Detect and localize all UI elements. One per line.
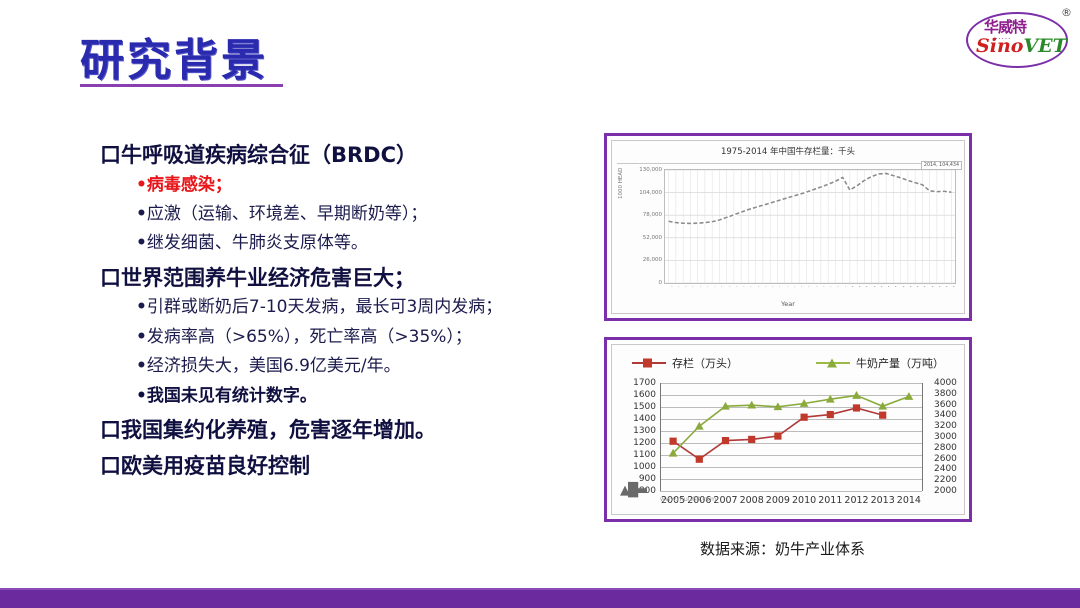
bullet-text: 牛呼吸道疾病综合征（BRDC） xyxy=(121,143,417,167)
bullet-text: 继发细菌、牛肺炎支原体等。 xyxy=(147,233,368,253)
chart-top-inner-frame: 1975-2014 年中国牛存栏量：千头 1000 HEAD 026,00052… xyxy=(611,140,965,314)
chart-bot-x-tick: 2007 xyxy=(713,495,737,506)
chart-bot-right-y-tick: 3200 xyxy=(934,421,957,431)
chart-top-x-axis-label: Year xyxy=(612,300,964,308)
square-bullet-icon: 口 xyxy=(100,418,121,442)
chart-bot-right-y-tick: 3600 xyxy=(934,400,957,410)
bullet-text: 经济损失大，美国6.9亿美元/年。 xyxy=(147,356,401,376)
bullet-line-l1: 口牛呼吸道疾病综合征（BRDC） xyxy=(100,142,600,170)
bullet-line-l10: 口我国集约化养殖，危害逐年增加。 xyxy=(100,417,600,445)
legend-item-stock: 存栏（万头） xyxy=(632,355,738,371)
chart-bot-x-tick: 2014 xyxy=(897,495,921,506)
content-body: 口牛呼吸道疾病综合征（BRDC）•病毒感染；•应激（运输、环境差、早期断奶等）；… xyxy=(100,142,600,482)
legend-line-red xyxy=(632,362,666,364)
dot-bullet-icon: • xyxy=(136,327,147,347)
chart-bot-right-y-tick: 2600 xyxy=(934,454,957,464)
bullet-line-l4: •继发细菌、牛肺炎支原体等。 xyxy=(100,230,600,256)
bullet-text: 世界范围养牛业经济危害巨大； xyxy=(121,266,415,290)
chart-bot-legend: 存栏（万头） 牛奶产量（万吨） xyxy=(612,355,964,371)
chart-bot-right-y-tick: 3800 xyxy=(934,389,957,399)
chart-top-title-divider xyxy=(617,163,959,164)
chart-bot-x-tick: 2009 xyxy=(766,495,790,506)
chart-bot-left-y-tick: 1700 xyxy=(633,378,656,388)
chart-bot-right-y-tick: 3400 xyxy=(934,410,957,420)
chart-bot-left-y-tick: 1600 xyxy=(633,390,656,400)
triangle-marker-icon xyxy=(827,359,837,368)
chart-bot-right-y-tick: 2400 xyxy=(934,464,957,474)
chart-cattle-stock: 1975-2014 年中国牛存栏量：千头 1000 HEAD 026,00052… xyxy=(604,133,972,321)
chart-stock-and-milk: 存栏（万头） 牛奶产量（万吨） 800900100011001200130014… xyxy=(604,337,972,522)
dot-bullet-icon: • xyxy=(136,204,147,224)
bullet-line-l7: •发病率高（>65%），死亡率高（>35%）； xyxy=(100,324,600,350)
chart-top-y-tick: 78,000 xyxy=(643,212,662,218)
chart-top-annotation: 2014, 104,434 xyxy=(921,161,962,170)
bullet-text: 我国未见有统计数字。 xyxy=(147,386,317,406)
legend-label-milk: 牛奶产量（万吨） xyxy=(856,355,944,371)
bullet-text: 引群或断奶后7-10天发病，最长可3周内发病； xyxy=(147,297,502,317)
chart-top-y-tick: 130,000 xyxy=(639,167,662,173)
chart-bot-right-y-tick: 3000 xyxy=(934,432,957,442)
square-bullet-icon: 口 xyxy=(100,143,121,167)
bullet-line-l3: •应激（运输、环境差、早期断奶等）； xyxy=(100,201,600,227)
bullet-line-l11: 口欧美用疫苗良好控制 xyxy=(100,453,600,481)
bullet-text: 我国集约化养殖，危害逐年增加。 xyxy=(121,418,436,442)
dot-bullet-icon: • xyxy=(136,297,147,317)
data-source-caption: 数据来源：奶牛产业体系 xyxy=(700,538,865,559)
chart-top-y-tick: 104,000 xyxy=(639,190,662,196)
bullet-line-l2: •病毒感染； xyxy=(100,172,600,198)
chart-bot-right-y-tick: 2200 xyxy=(934,475,957,485)
chart-top-title: 1975-2014 年中国牛存栏量：千头 xyxy=(612,145,964,157)
chart-bot-left-y-tick: 1200 xyxy=(633,438,656,448)
chart-bot-inner-frame: 存栏（万头） 牛奶产量（万吨） 800900100011001200130014… xyxy=(611,344,965,515)
chart-bot-right-y-tick: 2000 xyxy=(934,486,957,496)
square-marker-icon xyxy=(643,359,652,368)
title-underline xyxy=(80,84,283,87)
logo-wordmark: SinoVET xyxy=(976,35,1067,57)
legend-label-stock: 存栏（万头） xyxy=(672,355,738,371)
chart-bot-svg xyxy=(660,383,922,495)
chart-bot-left-y-tick: 1500 xyxy=(633,402,656,412)
chart-bot-left-y-tick: 1400 xyxy=(633,414,656,424)
chart-bot-x-tick: 2013 xyxy=(871,495,895,506)
chart-top-y-axis-label: 1000 HEAD xyxy=(618,168,624,199)
chart-top-x-tick-labels: 1975197619771978197919801981198219831984… xyxy=(664,286,956,312)
dot-bullet-icon: • xyxy=(136,175,147,195)
chart-top-x-tick: 2014 xyxy=(951,286,956,288)
chart-bot-plot-area: 8009001000110012001300140015001600170020… xyxy=(660,383,922,491)
chart-bot-right-axis xyxy=(922,383,923,491)
bullet-line-l8: •经济损失大，美国6.9亿美元/年。 xyxy=(100,353,600,379)
chart-bot-x-tick: 2011 xyxy=(818,495,842,506)
bullet-line-l6: •引群或断奶后7-10天发病，最长可3周内发病； xyxy=(100,294,600,320)
bullet-text: 欧美用疫苗良好控制 xyxy=(121,454,310,478)
chart-top-y-tick: 0 xyxy=(659,280,663,286)
square-bullet-icon: 口 xyxy=(100,454,121,478)
chart-top-y-tick: 52,000 xyxy=(643,235,662,241)
chart-bot-x-tick: 2010 xyxy=(792,495,816,506)
brand-logo: 华威特 ...... SinoVET ® xyxy=(962,4,1074,70)
chart-top-plot-area: 026,00052,00078,000104,000130,000 xyxy=(664,169,956,284)
chart-bot-left-y-tick: 1100 xyxy=(633,450,656,460)
cow-silhouette-icon: ▲█▬ xyxy=(620,483,646,498)
bullet-line-l5: 口世界范围养牛业经济危害巨大； xyxy=(100,265,600,293)
chart-bot-x-tick: 2008 xyxy=(740,495,764,506)
chart-top-y-tick: 26,000 xyxy=(643,257,662,263)
square-bullet-icon: 口 xyxy=(100,266,121,290)
dot-bullet-icon: • xyxy=(136,233,147,253)
dot-bullet-icon: • xyxy=(136,356,147,376)
dot-bullet-icon: • xyxy=(136,386,147,406)
chart-bot-left-y-tick: 1000 xyxy=(633,462,656,472)
logo-sino-text: Sino xyxy=(976,35,1023,57)
bullet-text: 发病率高（>65%），死亡率高（>35%）； xyxy=(147,327,472,347)
registered-trademark-icon: ® xyxy=(1061,6,1072,19)
legend-line-green xyxy=(816,362,850,364)
page-title: 研究背景 xyxy=(80,24,268,88)
chart-top-svg xyxy=(665,170,955,283)
chart-bot-right-y-tick: 4000 xyxy=(934,378,957,388)
legend-item-milk: 牛奶产量（万吨） xyxy=(816,355,944,371)
bullet-text: 病毒感染； xyxy=(147,175,232,195)
site-watermark: www.muu88.com xyxy=(660,495,716,503)
chart-bot-right-y-tick: 2800 xyxy=(934,443,957,453)
bullet-text: 应激（运输、环境差、早期断奶等）； xyxy=(147,204,428,224)
footer-bar xyxy=(0,588,1080,608)
chart-bot-left-y-tick: 1300 xyxy=(633,426,656,436)
logo-vet-text: VET xyxy=(1023,35,1066,57)
chart-bot-x-tick: 2012 xyxy=(844,495,868,506)
bullet-line-l9: •我国未见有统计数字。 xyxy=(100,383,600,409)
